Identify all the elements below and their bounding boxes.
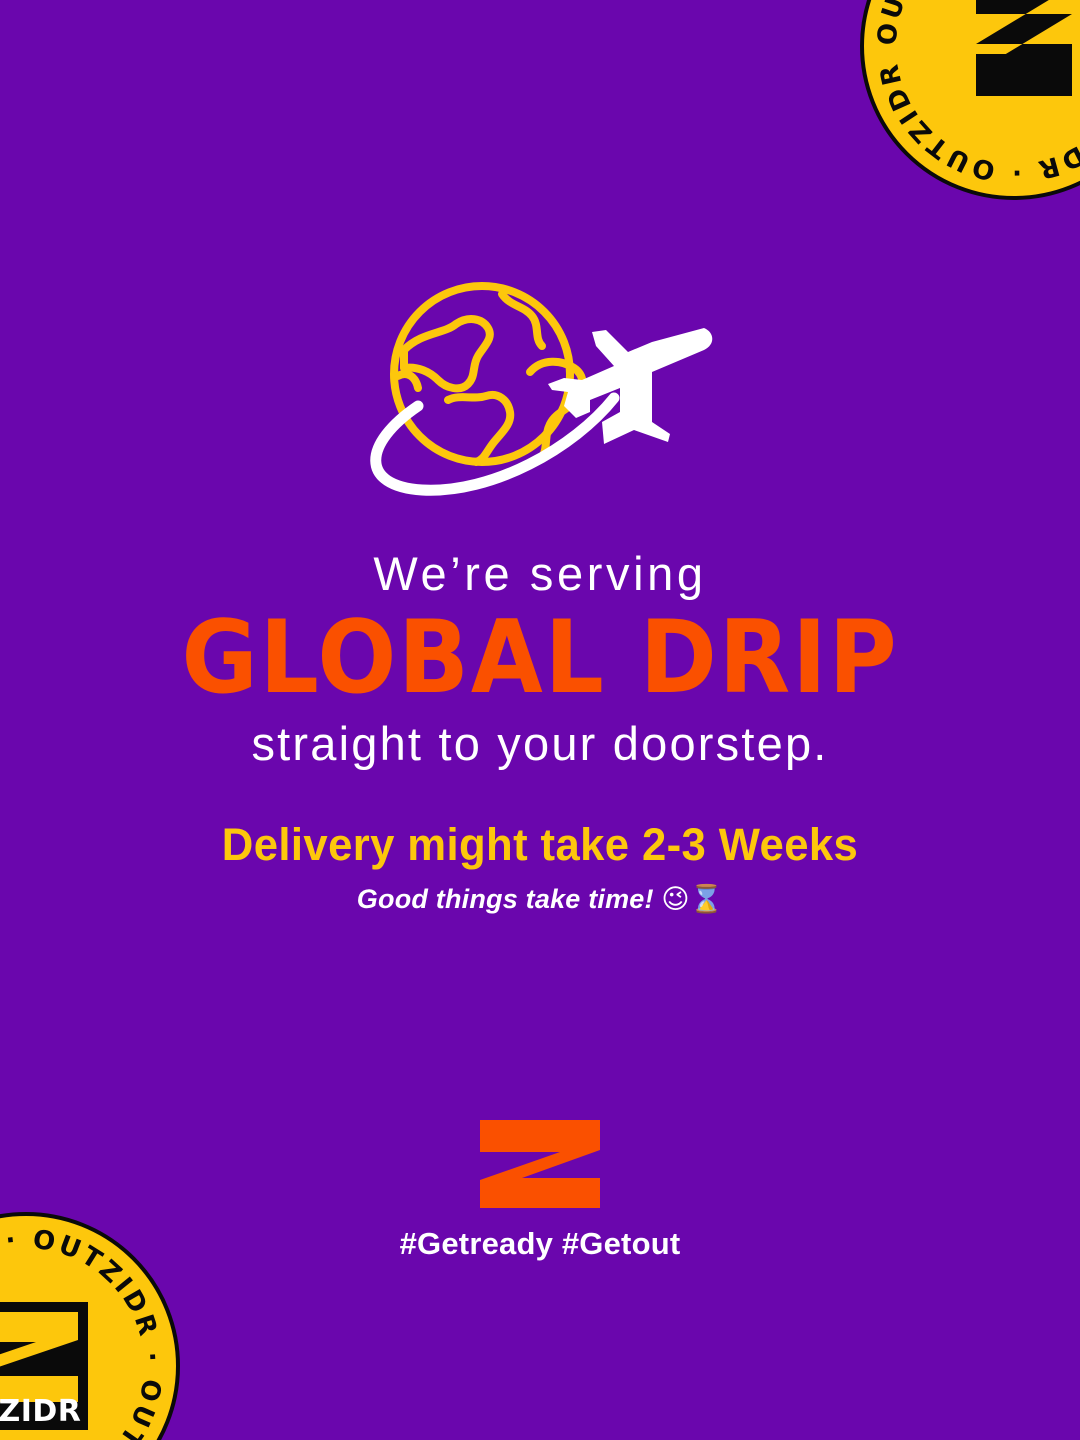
- outzidr-seal-top-right: OUTZIDR · OUTZIDR · OUTZIDR · OUTZIDR ·: [860, 0, 1080, 200]
- headline-line-1: We’re serving: [0, 548, 1080, 601]
- outzidr-z-mark: [476, 1118, 604, 1210]
- delivery-headline: Delivery might take 2-3 Weeks: [16, 820, 1064, 870]
- delivery-notice: Delivery might take 2-3 Weeks Good thing…: [0, 820, 1080, 916]
- promo-poster: OUTZIDR · OUTZIDR · OUTZIDR · OUTZIDR · …: [0, 0, 1080, 1440]
- headline-line-3: straight to your doorstep.: [0, 718, 1080, 771]
- headline-block: We’re serving GLOBAL DRIP straight to yo…: [0, 548, 1080, 770]
- wink-hourglass-emoji: 😉⌛: [661, 884, 723, 915]
- seal-center-text: OUTZIDR: [0, 1394, 81, 1429]
- seal-center-mark: [976, 0, 1072, 96]
- headline-line-2: GLOBAL DRIP: [43, 607, 1037, 708]
- delivery-subline-text: Good things take time!: [357, 884, 654, 914]
- brand-hashtags: #Getready #Getout: [0, 1226, 1080, 1262]
- delivery-subline: Good things take time! 😉⌛: [0, 883, 1080, 916]
- footer-brand: #Getready #Getout: [0, 1118, 1080, 1262]
- globe-airplane-icon: [352, 272, 718, 514]
- seal-center-mark: OUTZIDR: [0, 1302, 88, 1430]
